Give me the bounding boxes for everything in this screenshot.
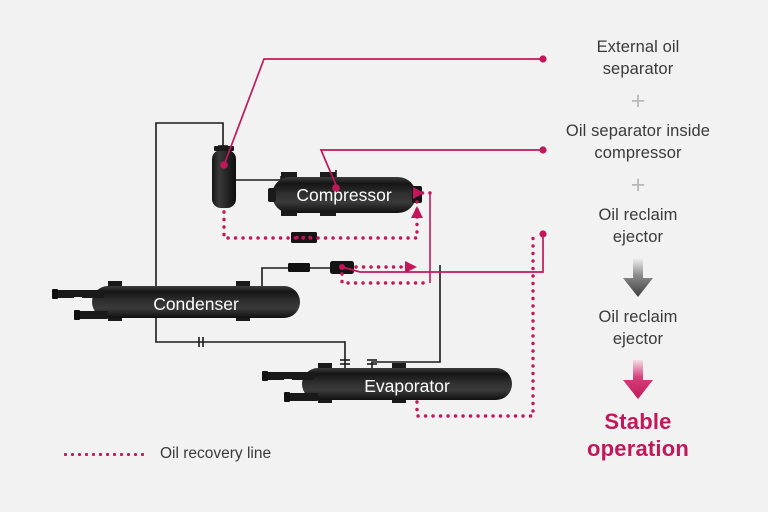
plus-sign-1: + [540,86,736,116]
compressor-label: Compressor [296,185,391,205]
condenser-label: Condenser [153,294,239,314]
process-piping [156,123,440,368]
legend: Oil recovery line [62,445,271,463]
callout-oil-reclaim-ejector-2: Oil reclaim ejector [540,306,736,350]
callout-oil-reclaim-ejector-1: Oil reclaim ejector [540,204,736,248]
callout-external-oil-separator: External oil separator [540,36,736,80]
external-oil-separator-vessel [212,146,236,208]
callout-oil-separator-inside-compressor: Oil separator inside compressor [540,120,736,164]
flow-column: External oil separator + Oil separator i… [540,36,736,462]
diagram-canvas: Compressor Condenser Evaporator External… [0,0,768,512]
oil-recovery-line-swatch [62,453,148,456]
down-arrow-crimson-icon [540,360,736,400]
down-arrow-gray-icon [540,258,736,298]
plus-sign-2: + [540,170,736,200]
legend-label: Oil recovery line [160,445,271,463]
evaporator-label: Evaporator [364,376,450,396]
callout-leader-lines [224,59,543,272]
result-stable-operation: Stable operation [540,408,736,462]
valve-condenser-outlet [288,263,310,272]
